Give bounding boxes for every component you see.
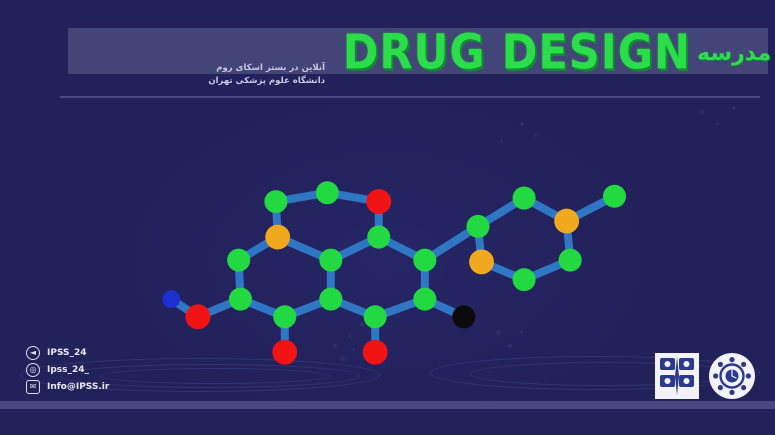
atom-node [229,288,252,311]
logo-group [655,353,755,399]
atom-node [367,226,390,249]
decorative-bubble [534,134,537,137]
atom-node [363,340,388,365]
instagram-icon: ◎ [26,363,40,377]
atom-node [272,340,297,365]
atom-node [265,225,290,250]
decorative-bubble [700,110,704,114]
atom-node [559,249,582,272]
atom-node [469,249,494,274]
atom-node [319,288,342,311]
atom-node [227,249,250,272]
atom-node [513,268,536,291]
book-emblem-logo [655,353,699,399]
molecule-graphic [150,175,650,370]
tehran-university-medical-sciences-logo [709,353,755,399]
footer-band [0,407,775,435]
atom-node [466,215,489,238]
contact-row-telegram[interactable]: ◄ IPSS_24 [26,344,109,361]
poster-title: مدرسه DRUG DESIGN [330,22,775,84]
subtitle-line-2: دانشگاه علوم پزشکی تهران [120,75,325,88]
telegram-icon: ◄ [26,346,40,360]
atom-node [319,249,342,272]
contact-row-email[interactable]: ✉ Info@IPSS.ir [26,378,109,395]
title-main: DRUG DESIGN [343,25,691,81]
instagram-handle: Ipss_24_ [47,365,89,375]
telegram-handle: IPSS_24 [47,348,87,358]
contact-row-instagram[interactable]: ◎ Ipss_24_ [26,361,109,378]
email-icon: ✉ [26,380,40,394]
decorative-ripple [100,368,330,384]
atom-node [186,304,211,329]
atom-node [364,305,387,328]
atom-node [316,181,339,204]
title-prefix: مدرسه [697,41,775,66]
atom-node [366,189,391,214]
decorative-bubble [716,122,719,125]
header-underline [60,96,760,98]
molecule-bonds [171,193,614,353]
contact-list: ◄ IPSS_24 ◎ Ipss_24_ ✉ Info@IPSS.ir [26,344,109,395]
atom-node [513,187,536,210]
email-address: Info@IPSS.ir [47,382,109,392]
atom-node [413,249,436,272]
atom-node [603,185,626,208]
atom-node [413,288,436,311]
decorative-bubble [500,140,503,143]
poster-subtitle: آنلاین در بستر اسکای روم دانشگاه علوم پز… [120,62,325,88]
decorative-bubble [732,106,736,110]
atom-node [162,290,180,308]
molecule-atoms [162,181,626,364]
subtitle-line-1: آنلاین در بستر اسکای روم [120,62,325,75]
atom-node [273,305,296,328]
poster-root: مدرسه DRUG DESIGN آنلاین در بستر اسکای ر… [0,0,775,435]
atom-node [452,305,475,328]
atom-node [264,190,287,213]
decorative-bubble [520,122,524,126]
atom-node [554,209,579,234]
